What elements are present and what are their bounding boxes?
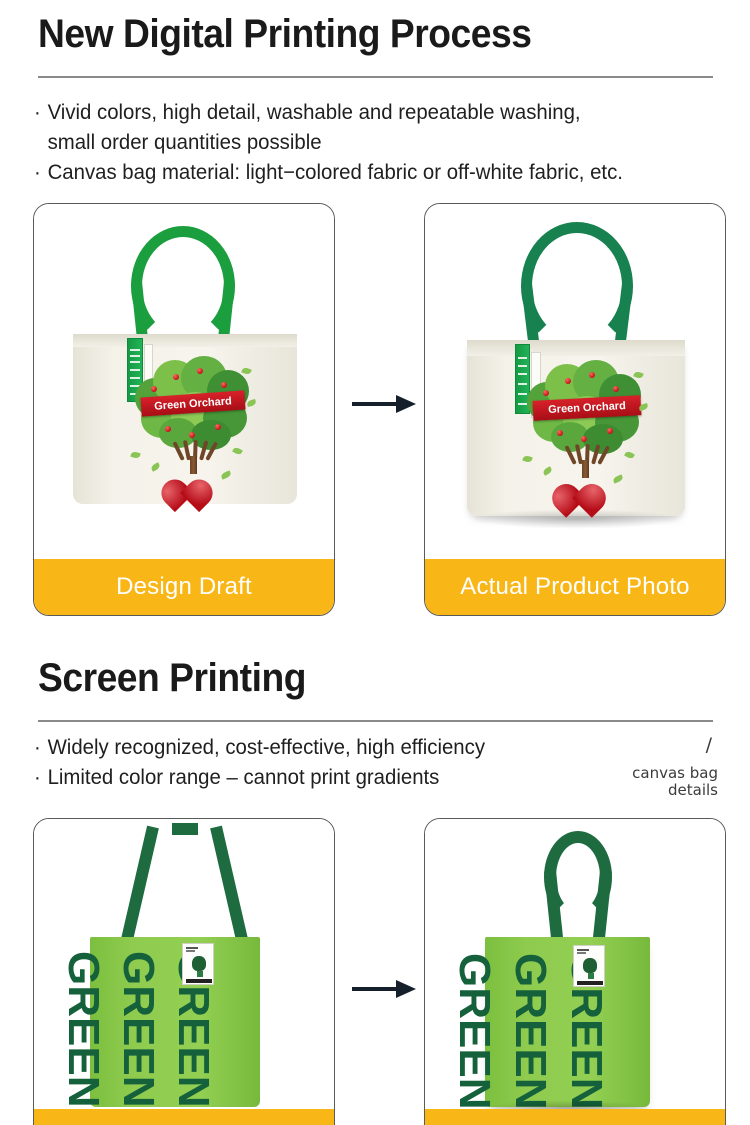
heading-divider-2: [38, 720, 713, 722]
card-actual-photo-green[interactable]: GREEN, GREEN, GREEN, Actual Product Phot…: [424, 818, 726, 1125]
side-note-line-1: canvas bag: [558, 765, 718, 782]
recycle-hang-tag: [182, 943, 214, 985]
card-image-actual-photo-green: GREEN, GREEN, GREEN,: [425, 819, 725, 1111]
card-caption-actual-photo-green: Actual Product Photo: [425, 1109, 725, 1125]
product-detail-page: New Digital Printing Process ·Vivid colo…: [0, 0, 750, 1125]
green-bag-word: GREEN,: [505, 953, 555, 1111]
bullet-list-digital-printing: ·Vivid colors, high detail, washable and…: [34, 98, 694, 188]
bullet-item: ·Canvas bag material: light−colored fabr…: [34, 158, 674, 188]
bullet-text: Vivid colors, high detail, washable and …: [48, 101, 581, 124]
arrow-right-icon: [352, 980, 418, 998]
side-note-line-2: details: [558, 782, 718, 799]
arrow-right-icon: [352, 395, 418, 413]
card-design-draft-canvas[interactable]: Green Orchard: [33, 203, 335, 616]
side-note-canvas-bag-details: / canvas bag details: [558, 735, 718, 799]
heart-apple: [180, 466, 207, 493]
bullet-dot: ·: [34, 763, 48, 793]
green-tote-illustration: GREEN, GREEN, GREEN,: [34, 819, 334, 1111]
heading-divider-1: [38, 76, 713, 78]
card-image-design-draft-canvas: Green Orchard: [34, 204, 334, 559]
green-bag-word: GREEN,: [113, 951, 163, 1111]
section-heading-digital-printing: New Digital Printing Process: [38, 14, 531, 54]
card-image-design-draft-green: GREEN, GREEN, GREEN,: [34, 819, 334, 1111]
bullet-dot: ·: [34, 98, 48, 128]
bullet-text: Widely recognized, cost-effective, high …: [48, 736, 485, 759]
bullet-text: Limited color range – cannot print gradi…: [48, 766, 440, 789]
tree-graphic: Green Orchard: [521, 356, 653, 506]
section-heading-screen-printing: Screen Printing: [38, 658, 306, 698]
bullet-text: Canvas bag material: light−colored fabri…: [48, 161, 623, 184]
bullet-dot: ·: [34, 733, 48, 763]
card-actual-photo-canvas[interactable]: Green Orchard Actual Product: [424, 203, 726, 616]
green-bag-word: GREEN,: [58, 951, 108, 1111]
bullet-text: small order quantities possible: [48, 131, 322, 154]
heart-apple: [572, 470, 600, 498]
canvas-tote-photo: Green Orchard: [425, 204, 725, 559]
recycle-hang-tag: [573, 945, 605, 987]
card-design-draft-green[interactable]: GREEN, GREEN, GREEN, Design Draft: [33, 818, 335, 1125]
side-note-slash: /: [558, 735, 718, 755]
bullet-item: small order quantities possible: [34, 128, 674, 158]
bullet-dot: ·: [34, 158, 48, 188]
green-bag-word: GREEN,: [449, 953, 499, 1111]
card-caption-design-draft-canvas: Design Draft: [34, 559, 334, 615]
card-caption-actual-photo-canvas: Actual Product Photo: [425, 559, 725, 615]
canvas-tote-illustration: Green Orchard: [34, 204, 334, 559]
tree-graphic: Green Orchard: [129, 352, 259, 497]
bullet-item: ·Vivid colors, high detail, washable and…: [34, 98, 674, 128]
card-image-actual-photo-canvas: Green Orchard: [425, 204, 725, 559]
card-caption-design-draft-green: Design Draft: [34, 1109, 334, 1125]
green-tote-photo: GREEN, GREEN, GREEN,: [425, 819, 725, 1111]
